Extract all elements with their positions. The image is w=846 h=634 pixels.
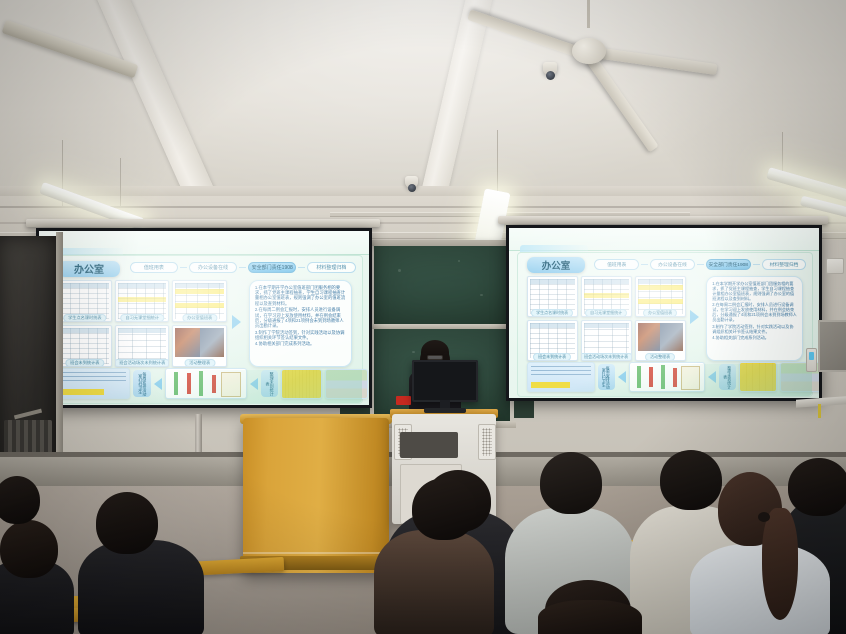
slide-thumbnail-caption-5: 活动整理表 (184, 359, 215, 367)
slide-thumbnail-caption-1: 自习无课堂细统计 (121, 314, 165, 322)
slide-body-left: 办公室 值班用表 办公设备在线 安全部门责任1908 材料整理归档 学生点名课时… (47, 255, 363, 403)
slide-bottom-label-1-r: 整理未到统计表 (719, 364, 736, 391)
slide-bottom-chart-r[interactable] (629, 362, 706, 393)
projector-screen-left-roller (26, 219, 380, 227)
monitor-stand-foot (424, 408, 466, 413)
podium-monitor-bezel (412, 360, 478, 402)
slide-thumbnail-3-r[interactable]: 班会未到统计表 (527, 320, 578, 361)
slide-arrow-icon-right (690, 310, 699, 324)
slide-thumbnail-5[interactable]: 活动整理表 (172, 325, 226, 367)
slide-arrow-icon-left (232, 315, 241, 329)
slide-thumbnail-caption-3: 班会未到统计表 (65, 359, 104, 367)
slide-bottom-chart[interactable] (165, 368, 247, 399)
person-e-jacket (690, 544, 830, 634)
person-j-shoulder (374, 530, 494, 634)
slide-thumbnail-grid-left: 学生点名课时统表 自习无课堂细统计 办公室值班表 班会未到统计表 (58, 280, 227, 368)
wall-seam-upper (0, 206, 846, 208)
slide-text-line-1-r: 2.在每周二例会汇报时，安排人员进行设备调试，在学习迎上发放使用材料，并在例会结… (712, 302, 797, 322)
lecture-hall-photo: 述职报告 目录 | 工作回顾 | 存在主要问题 办公室 值班用表 办公设备在线 … (0, 0, 846, 634)
slide-thumbnail-caption-0-r: 学生点名课时统表 (531, 309, 573, 317)
slide-steps-right: 值班用表 办公设备在线 安全部门责任1908 材料整理归档 (594, 259, 806, 270)
slide-bottom-table-yellow-r[interactable] (739, 362, 777, 391)
light-wire-2 (120, 158, 121, 208)
slide-text-line-2: 3.制作了学院活动签到，针对实践活动以及协调组织相关环节签认结果文件。 (255, 330, 346, 341)
slide-step-3-r[interactable]: 材料整理归档 (762, 259, 807, 270)
fan-hub (572, 38, 606, 64)
wall-switch-box[interactable] (826, 258, 844, 274)
slide-bottom-table-yellow[interactable] (281, 369, 321, 399)
slide-thumbnail-0[interactable]: 学生点名课时统表 (58, 280, 112, 322)
slide-thumbnail-caption-2: 办公室值班表 (182, 314, 217, 322)
projector-screen-right-roller (498, 216, 828, 224)
slide-bottom-arrow-1-r (618, 371, 626, 383)
slide-text-panel-right: 1.在本学期开学办公室值班部门团服务相的要求，抓了党班主课程抽查，学生自习课程抽… (706, 276, 803, 362)
slide-thumbnail-caption-1-r: 自习无课堂细统计 (585, 309, 627, 317)
slide-text-line-0: 1.在本学期开学办公室值班部门团服务相的要求，抓了党班主课程抽查，学生自习课程抽… (255, 285, 346, 306)
person-g-head (96, 492, 158, 554)
slide-step-2[interactable]: 安全部门责任1908 (248, 262, 296, 273)
slide-thumbnail-2[interactable]: 办公室值班表 (172, 280, 226, 322)
slide-thumbnail-caption-4-r: 班会活动场次未到统计表 (581, 353, 632, 361)
slide-text-line-1: 2.在每周二例会汇报时，安排人员进行设备调试，在学习迎上发放使用材料，并在例会结… (255, 307, 346, 328)
podium-seam (243, 552, 389, 554)
slide-thumbnail-caption-2-r: 办公室值班表 (643, 309, 677, 317)
slide-bottom-label-1: 整理未到统计表 (261, 370, 279, 397)
security-camera-1-lens (546, 71, 555, 80)
slide-step-0-r[interactable]: 值班用表 (594, 259, 639, 270)
wooden-podium[interactable] (243, 418, 389, 573)
red-marker-box (396, 396, 411, 405)
person-j-head (412, 478, 476, 540)
person-d-head (788, 458, 846, 516)
slide-thumbnail-caption-5-r: 活动整理表 (645, 353, 675, 361)
slide-step-3[interactable]: 材料整理归档 (307, 262, 355, 273)
slide-thumbnail-1-r[interactable]: 自习无课堂细统计 (581, 276, 632, 317)
wall-access-panel[interactable] (818, 320, 846, 372)
slide-thumbnail-2-r[interactable]: 办公室值班表 (635, 276, 686, 317)
slide-step-1-r[interactable]: 办公设备在线 (650, 259, 695, 270)
slide-step-2-r[interactable]: 安全部门责任1908 (706, 259, 751, 270)
slide-thumbnail-4-r[interactable]: 班会活动场次未到统计表 (581, 320, 632, 361)
console-panel-recess (400, 432, 458, 458)
slide-thumbnail-caption-0: 学生点名课时统表 (63, 314, 107, 322)
slide-thumbnail-caption-4: 班会活动场次未到统计表 (115, 359, 169, 367)
projector-screen-left: 述职报告 目录 | 工作回顾 | 存在主要问题 办公室 值班用表 办公设备在线 … (36, 228, 372, 408)
slide-text-line-3: 4.协助相关部门完成系列活动。 (255, 341, 346, 346)
slide-thumbnail-grid-right: 学生点名课时统表 自习无课堂细统计 办公室值班表 班会未到统计表 (527, 276, 686, 362)
security-camera-2-lens (408, 184, 416, 192)
slide-bottom-row-right: 每周安排活动室打扫卫生 整理未到统计表 学生会成员信息表 (527, 363, 804, 392)
speaker-grille-right (478, 424, 496, 460)
slide-department-chip-right: 办公室 (527, 257, 586, 273)
slide-left: 述职报告 目录 | 工作回顾 | 存在主要问题 办公室 值班用表 办公设备在线 … (39, 231, 369, 405)
slide-text-line-0-r: 1.在本学期开学办公室值班部门团服务相的要求，抓了党班主课程抽查，学生自习课程抽… (712, 281, 797, 301)
slide-text-line-3-r: 4.协助相关部门完成系列活动。 (712, 335, 797, 340)
person-h-head (0, 520, 58, 578)
slide-body-right: 办公室 值班用表 办公设备在线 安全部门责任1908 材料整理归档 学生点名课时… (517, 252, 814, 397)
slide-thumbnail-3[interactable]: 班会未到统计表 (58, 325, 112, 367)
person-i-head (0, 476, 40, 524)
slide-right: 述职报告 目录 | 工作回顾 | 存在主要问题 办公室 值班用表 办公设备在线 … (509, 228, 819, 398)
slide-thumbnail-1[interactable]: 自习无课堂细统计 (115, 280, 169, 322)
slide-bottom-table-green[interactable] (325, 369, 368, 399)
slide-text-panel-left: 1.在本学期开学办公室值班部门团服务相的要求，抓了党班主课程抽查，学生自习课程抽… (249, 280, 352, 368)
blackboard-upper-panel (374, 246, 510, 324)
slide-thumbnail-0-r[interactable]: 学生点名课时统表 (527, 276, 578, 317)
person-g-jacket (78, 540, 204, 634)
av-control-panel[interactable] (806, 348, 817, 372)
slide-bottom-label-0-r: 每周安排活动室打扫卫生 (598, 364, 615, 391)
slide-bottom-doc[interactable] (58, 368, 131, 399)
slide-thumbnail-5-r[interactable]: 活动整理表 (635, 320, 686, 361)
slide-bottom-arrow-2-r (708, 371, 716, 383)
fan-rod (587, 0, 590, 28)
person-f-hair (538, 600, 642, 634)
slide-steps-left: 值班用表 办公设备在线 安全部门责任1908 材料整理归档 (130, 262, 356, 273)
slide-bottom-row-left: 每周安排活动室打扫卫生 整理未到统计表 学生会成员信息表 (58, 369, 353, 398)
slide-thumbnail-4[interactable]: 班会活动场次未到统计表 (115, 325, 169, 367)
slide-thumbnail-caption-3-r: 班会未到统计表 (533, 353, 571, 361)
projector-screen-right: 述职报告 目录 | 工作回顾 | 存在主要问题 办公室 值班用表 办公设备在线 … (506, 225, 822, 401)
slide-bottom-label-0: 每周安排活动室打扫卫生 (133, 370, 151, 397)
slide-department-chip-left: 办公室 (58, 261, 121, 277)
slide-bottom-arrow-2 (250, 378, 258, 390)
slide-step-0[interactable]: 值班用表 (130, 262, 178, 273)
slide-bottom-doc-r[interactable] (527, 362, 595, 393)
person-e-ponytail (762, 508, 798, 620)
hair-tie (758, 512, 770, 522)
slide-bottom-arrow-1 (154, 378, 162, 390)
slide-text-line-2-r: 3.制作了学院活动签到，针对实践活动以及协调组织相关环节签认结果文件。 (712, 324, 797, 334)
person-b-head (540, 452, 602, 514)
light-wire-3 (497, 130, 498, 196)
hanging-tag (818, 404, 821, 418)
slide-step-1[interactable]: 办公设备在线 (189, 262, 237, 273)
person-c-head (660, 450, 722, 510)
